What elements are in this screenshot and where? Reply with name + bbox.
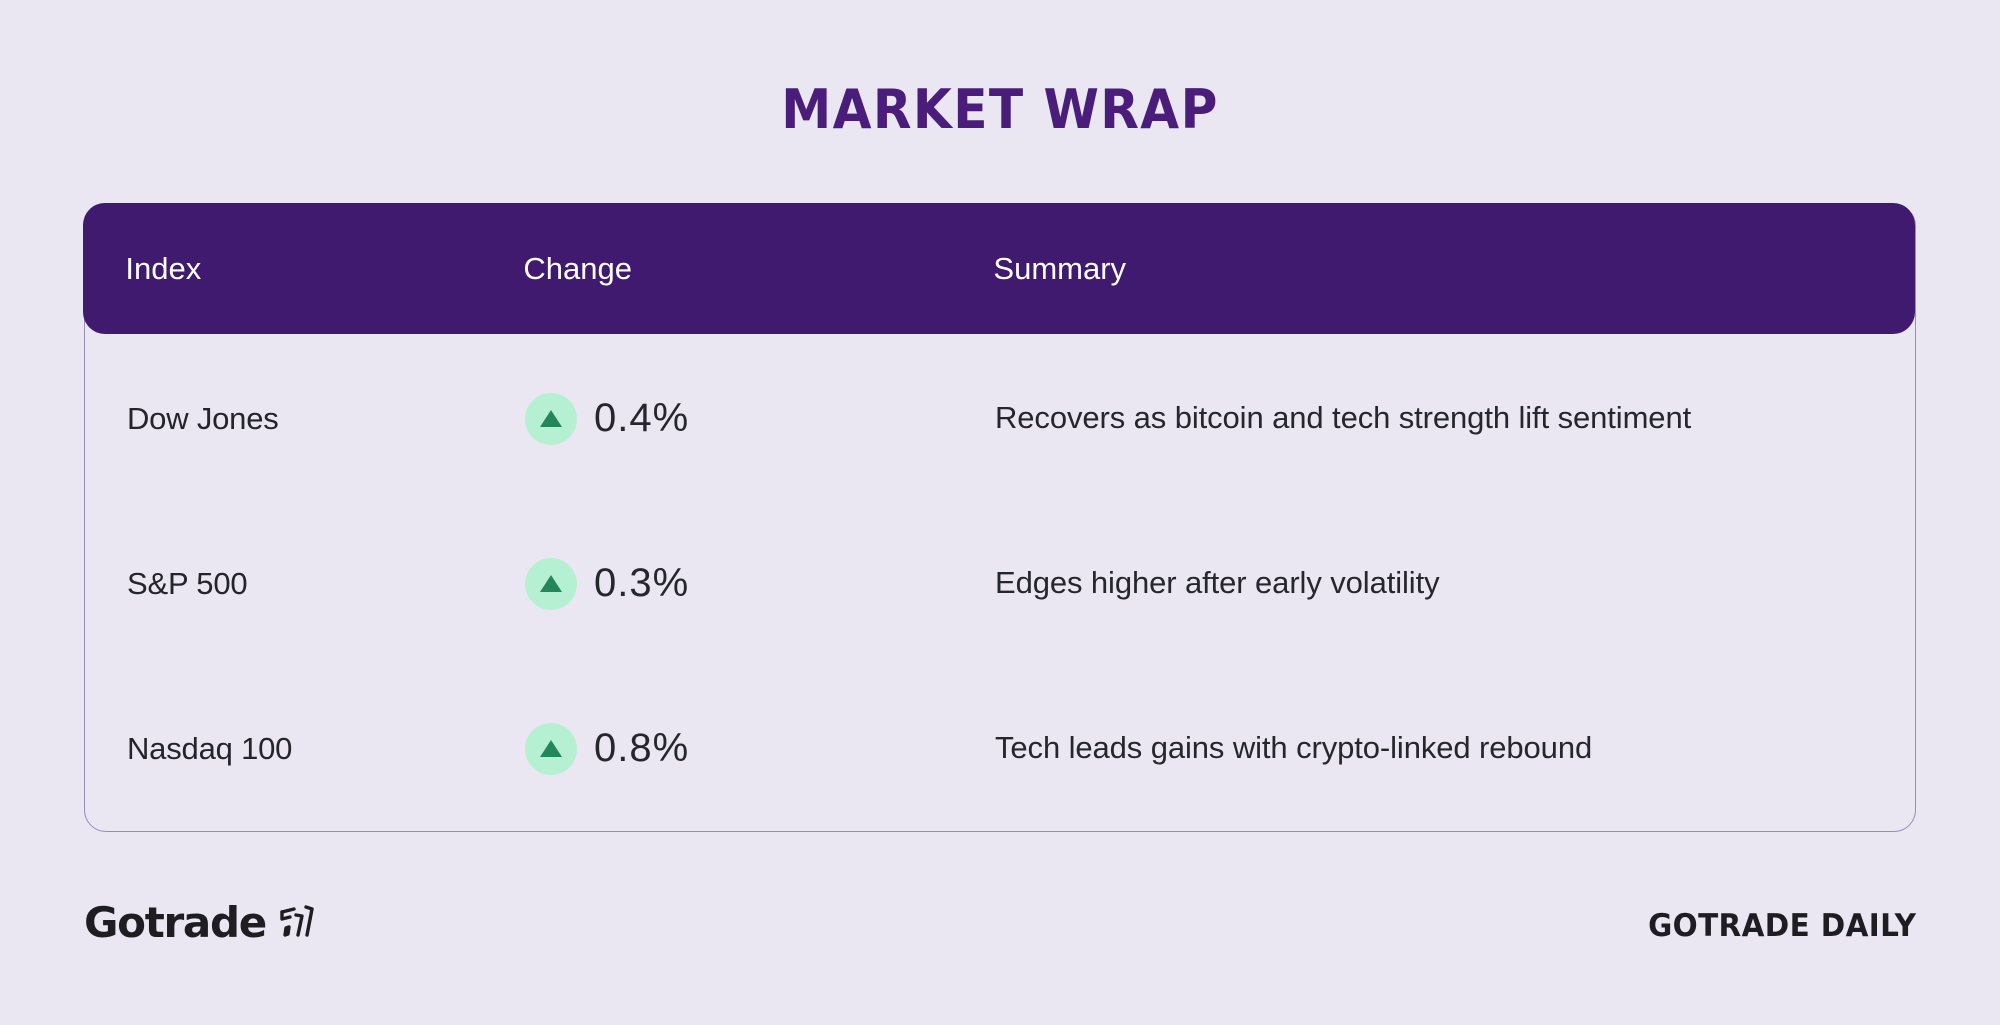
column-header-summary: Summary bbox=[993, 251, 1915, 287]
index-cell: Nasdaq 100 bbox=[85, 731, 525, 767]
summary-text: Edges higher after early volatility bbox=[995, 565, 1440, 600]
change-cell: 0.3% bbox=[525, 558, 995, 610]
change-cell: 0.8% bbox=[525, 723, 995, 775]
market-table: Index Change Summary Dow Jones 0.4% Reco… bbox=[84, 204, 1916, 832]
index-name: S&P 500 bbox=[127, 566, 247, 601]
index-name: Dow Jones bbox=[127, 401, 279, 436]
page-title: MARKET WRAP bbox=[70, 78, 1930, 141]
publication-name: GOTRADE DAILY bbox=[1648, 908, 1916, 944]
table-header-row: Index Change Summary bbox=[83, 203, 1915, 334]
table-body: Dow Jones 0.4% Recovers as bitcoin and t… bbox=[85, 336, 1917, 831]
column-header-index: Index bbox=[83, 251, 523, 287]
summary-cell: Recovers as bitcoin and tech strength li… bbox=[995, 397, 1917, 440]
table-row: Dow Jones 0.4% Recovers as bitcoin and t… bbox=[85, 336, 1917, 501]
index-name: Nasdaq 100 bbox=[127, 731, 292, 766]
gotrade-bars-icon bbox=[276, 903, 316, 946]
index-cell: Dow Jones bbox=[85, 401, 525, 437]
market-wrap-card: MARKET WRAP Index Change Summary Dow Jon… bbox=[0, 0, 2000, 1025]
change-cell: 0.4% bbox=[525, 393, 995, 445]
table-row: S&P 500 0.3% Edges higher after early vo… bbox=[85, 501, 1917, 666]
up-triangle-icon bbox=[525, 723, 577, 775]
up-triangle-icon bbox=[525, 558, 577, 610]
column-header-change: Change bbox=[523, 251, 993, 287]
brand-logo: Gotrade bbox=[84, 898, 316, 947]
summary-cell: Tech leads gains with crypto-linked rebo… bbox=[995, 727, 1917, 770]
brand-wordmark: Gotrade bbox=[84, 898, 266, 947]
summary-text: Tech leads gains with crypto-linked rebo… bbox=[995, 730, 1592, 765]
summary-cell: Edges higher after early volatility bbox=[995, 562, 1917, 605]
table-row: Nasdaq 100 0.8% Tech leads gains with cr… bbox=[85, 666, 1917, 831]
summary-text: Recovers as bitcoin and tech strength li… bbox=[995, 400, 1691, 435]
up-triangle-icon bbox=[525, 393, 577, 445]
change-value: 0.3% bbox=[594, 561, 689, 606]
index-cell: S&P 500 bbox=[85, 566, 525, 602]
change-value: 0.8% bbox=[594, 726, 689, 771]
change-value: 0.4% bbox=[594, 396, 689, 441]
